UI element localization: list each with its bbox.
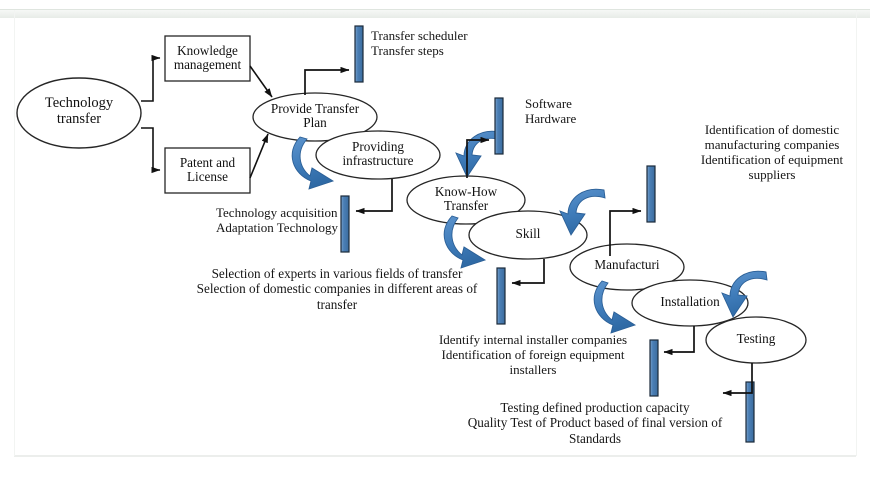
annotation-line: Identification of equipment	[676, 152, 868, 167]
label-line: transfer	[19, 112, 139, 128]
node-technology-transfer-label: Technology transfer	[19, 96, 139, 127]
connector-patent-to-plan	[250, 134, 268, 178]
annotation-line: Selection of domestic companies in diffe…	[178, 281, 496, 296]
annotation-line: Testing defined production capacity	[448, 400, 742, 415]
label-line: Patent and	[165, 156, 250, 170]
label-line: Manufacturi	[570, 258, 684, 272]
annotation-line: Identify internal installer companies	[420, 332, 646, 347]
annotation-line: manufacturing companies	[676, 137, 868, 152]
connector-knowledge-to-plan	[250, 66, 272, 97]
annotation-line: Identification of foreign equipment	[420, 347, 646, 362]
annotation-line: installers	[420, 362, 646, 377]
cycle-arrow-infrastructure-to-knowhow	[456, 131, 501, 177]
label-line: Plan	[255, 116, 375, 130]
bar-transfer-scheduler	[355, 26, 363, 82]
connector-installation-to-installer-bar	[664, 326, 694, 352]
label-line: Know-How	[408, 185, 524, 199]
bar-identification-domestic	[647, 166, 655, 222]
annotation-line: Standards	[448, 431, 742, 446]
label-line: Skill	[470, 227, 586, 241]
annotation-technology-acquisition: Technology acquisition Adaptation Techno…	[216, 205, 406, 235]
annotation-line: transfer	[178, 297, 496, 312]
node-testing-label: Testing	[706, 332, 806, 346]
label-line: infrastructure	[318, 154, 438, 168]
annotation-line: Transfer scheduler	[371, 28, 551, 43]
label-line: Knowledge	[165, 44, 250, 58]
annotation-line: Selection of experts in various fields o…	[178, 266, 496, 281]
annotation-line: suppliers	[676, 167, 868, 182]
label-line: Providing	[318, 140, 438, 154]
label-line: Transfer	[408, 199, 524, 213]
connector-start-to-patent	[141, 128, 160, 170]
annotation-selection-of-experts: Selection of experts in various fields o…	[178, 266, 496, 312]
annotation-identify-internal-installer: Identify internal installer companies Id…	[420, 332, 646, 377]
annotation-line: Adaptation Technology	[216, 220, 406, 235]
node-providing-infrastructure-label: Providing infrastructure	[318, 140, 438, 169]
node-patent-and-license-label: Patent and License	[165, 156, 250, 185]
annotation-line: Technology acquisition	[216, 205, 406, 220]
annotation-line: Transfer steps	[371, 43, 551, 58]
annotation-line: Hardware	[525, 111, 675, 126]
annotation-identification-of-domestic: Identification of domestic manufacturing…	[676, 122, 868, 182]
node-manufacturing-label: Manufacturi	[570, 258, 684, 272]
annotation-line: Quality Test of Product based of final v…	[448, 415, 742, 430]
connector-skill-to-selection-bar	[512, 259, 544, 283]
annotation-transfer-scheduler: Transfer scheduler Transfer steps	[371, 28, 551, 58]
diagram-canvas: Technology transfer Knowledge management…	[0, 0, 870, 480]
node-provide-transfer-plan-label: Provide Transfer Plan	[255, 102, 375, 131]
label-line: Installation	[633, 295, 747, 309]
bar-software-hardware	[495, 98, 503, 154]
label-line: management	[165, 58, 250, 72]
annotation-software-hardware: Software Hardware	[525, 96, 675, 126]
label-line: License	[165, 170, 250, 184]
node-skill-label: Skill	[470, 227, 586, 241]
label-line: Provide Transfer	[255, 102, 375, 116]
node-know-how-transfer-label: Know-How Transfer	[408, 185, 524, 214]
bar-identify-installer	[650, 340, 658, 396]
connector-plan-to-scheduler-bar	[305, 70, 349, 95]
bar-selection-experts	[497, 268, 505, 324]
node-installation-label: Installation	[633, 295, 747, 309]
annotation-line: Identification of domestic	[676, 122, 868, 137]
annotation-line: Software	[525, 96, 675, 111]
label-line: Testing	[706, 332, 806, 346]
connector-start-to-knowledge	[141, 58, 160, 101]
node-knowledge-management-label: Knowledge management	[165, 44, 250, 73]
annotation-testing-defined-capacity: Testing defined production capacity Qual…	[448, 400, 742, 446]
label-line: Technology	[19, 96, 139, 112]
